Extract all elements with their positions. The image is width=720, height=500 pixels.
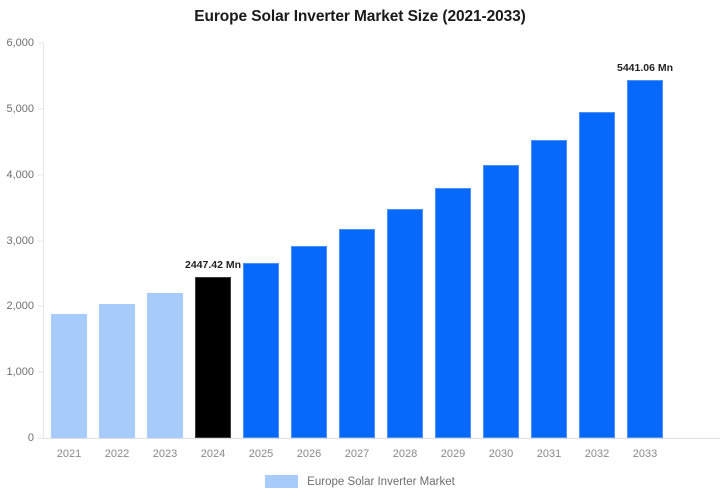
bar-value-label-2024: 2447.42 Mn (185, 259, 241, 271)
x-axis-tick-label-2030: 2030 (489, 448, 513, 460)
y-axis-tick-mark (38, 43, 43, 44)
x-axis-tick-label-2028: 2028 (393, 448, 417, 460)
x-axis-tick-label-2033: 2033 (633, 448, 657, 460)
bar-2023[interactable] (147, 293, 183, 438)
plot-area: 01,0002,0003,0004,0005,0006,000 2447.42 … (43, 43, 720, 438)
y-axis-tick-mark (38, 438, 43, 439)
x-axis-tick-label-2023: 2023 (153, 448, 177, 460)
x-axis-tick-label-2026: 2026 (297, 448, 321, 460)
bar-2022[interactable] (99, 304, 135, 438)
y-axis-tick-label: 1,000 (6, 366, 34, 378)
chart-legend[interactable]: Europe Solar Inverter Market (0, 475, 720, 488)
x-axis-tick-label-2024: 2024 (201, 448, 225, 460)
bar-2030[interactable] (483, 165, 519, 438)
x-axis-tick-label-2027: 2027 (345, 448, 369, 460)
x-axis-tick-label-2021: 2021 (57, 448, 81, 460)
bar-2031[interactable] (531, 140, 567, 438)
x-axis-tick-label-2031: 2031 (537, 448, 561, 460)
legend-label-europe-solar-inverter-market: Europe Solar Inverter Market (307, 476, 455, 488)
x-axis-tick-label-2022: 2022 (105, 448, 129, 460)
x-axis-tick-label-2032: 2032 (585, 448, 609, 460)
x-axis-tick-label-2025: 2025 (249, 448, 273, 460)
bar-2029[interactable] (435, 188, 471, 438)
y-axis-tick-label: 3,000 (6, 235, 34, 247)
bar-2024[interactable] (195, 277, 231, 438)
y-axis-tick-label: 0 (28, 432, 34, 444)
legend-swatch-europe-solar-inverter-market (265, 475, 298, 488)
y-axis-tick-mark (38, 174, 43, 175)
x-axis-tick-label-2029: 2029 (441, 448, 465, 460)
bar-2025[interactable] (243, 263, 279, 438)
bar-chart: Europe Solar Inverter Market Size (2021-… (0, 0, 720, 500)
y-axis-tick-label: 2,000 (6, 300, 34, 312)
bar-2028[interactable] (387, 209, 423, 438)
y-axis-tick-mark (38, 372, 43, 373)
x-axis-line (43, 438, 720, 439)
chart-title: Europe Solar Inverter Market Size (2021-… (0, 8, 720, 26)
bar-2032[interactable] (579, 112, 615, 438)
y-axis-tick-mark (38, 306, 43, 307)
y-axis-tick-label: 5,000 (6, 103, 34, 115)
y-axis-tick-label: 6,000 (6, 37, 34, 49)
y-axis-tick-mark (38, 240, 43, 241)
bar-2026[interactable] (291, 246, 327, 438)
bar-2027[interactable] (339, 229, 375, 438)
bar-value-label-2033: 5441.06 Mn (617, 62, 673, 74)
bar-2033[interactable] (627, 80, 663, 438)
bar-2021[interactable] (51, 314, 87, 438)
y-axis-tick-label: 4,000 (6, 169, 34, 181)
y-axis-tick-mark (38, 108, 43, 109)
